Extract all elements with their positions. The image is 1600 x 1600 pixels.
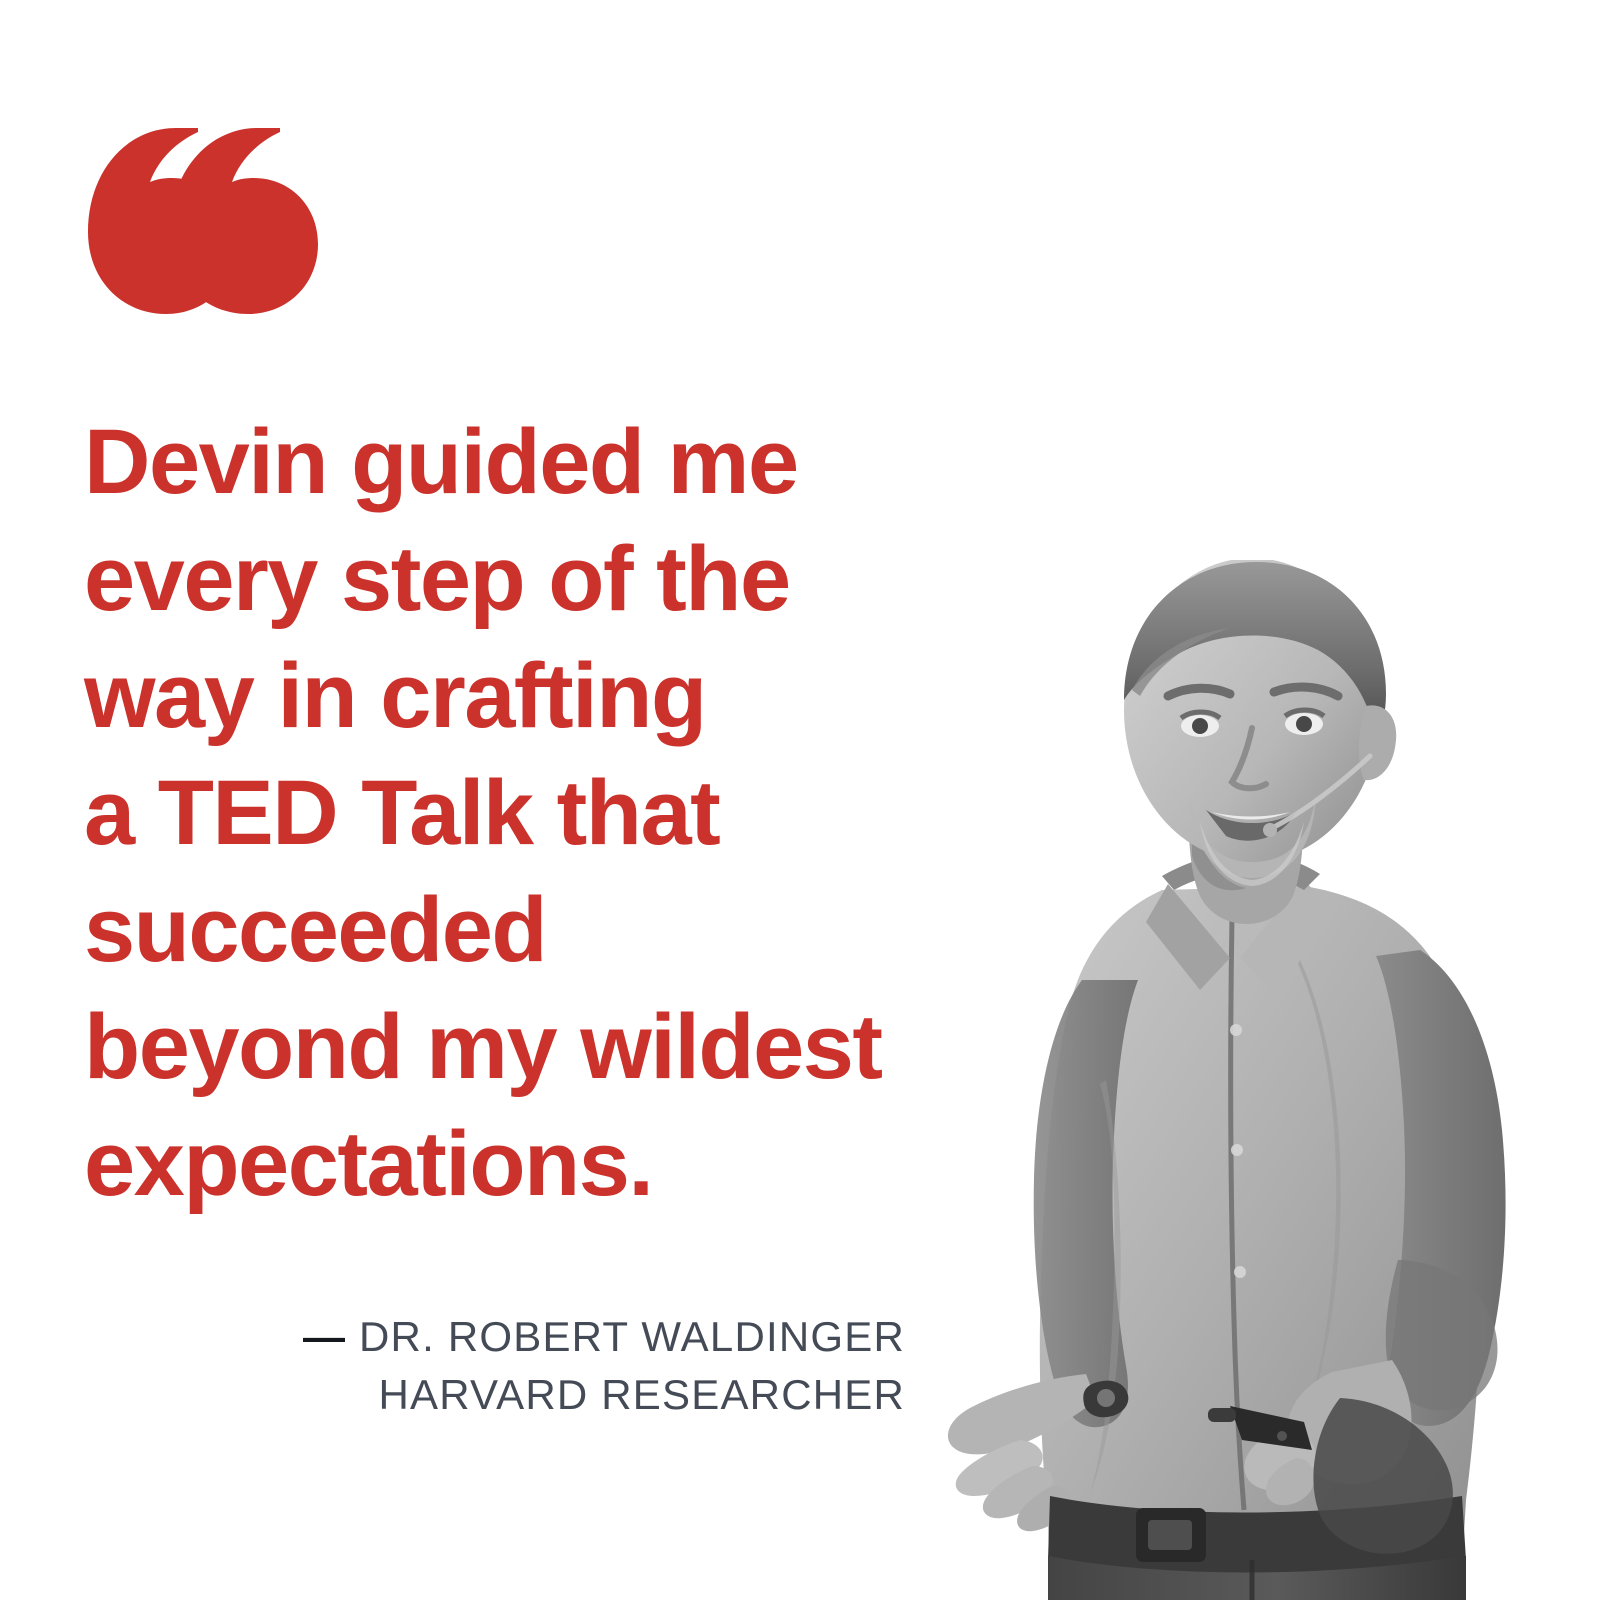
testimonial-card: Devin guided me every step of the way in… xyxy=(0,0,1600,1600)
quote-line: expectations. xyxy=(84,1106,964,1223)
quote-line: a TED Talk that xyxy=(84,755,964,872)
attribution-name-line: —DR. ROBERT WALDINGER xyxy=(0,1308,905,1366)
em-dash: — xyxy=(303,1313,359,1360)
quote-line: beyond my wildest xyxy=(84,989,964,1106)
quote-line: Devin guided me xyxy=(84,404,964,521)
attribution-title: HARVARD RESEARCHER xyxy=(0,1366,905,1424)
quote-line: every step of the xyxy=(84,521,964,638)
attribution-name: DR. ROBERT WALDINGER xyxy=(359,1313,905,1360)
quote-text: Devin guided me every step of the way in… xyxy=(84,404,964,1223)
speaker-photo xyxy=(900,560,1600,1600)
attribution: —DR. ROBERT WALDINGER HARVARD RESEARCHER xyxy=(0,1308,905,1424)
quote-line: way in crafting xyxy=(84,638,964,755)
opening-quotation-mark-icon xyxy=(80,120,330,320)
quote-line: succeeded xyxy=(84,872,964,989)
